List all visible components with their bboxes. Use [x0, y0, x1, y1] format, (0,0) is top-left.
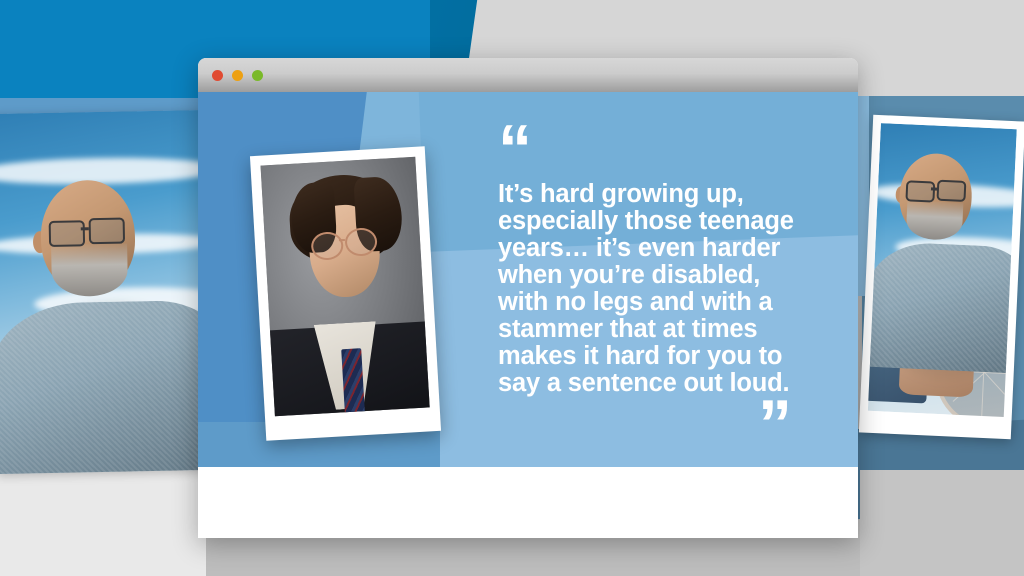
close-icon[interactable]: [212, 70, 223, 81]
quote-close-icon: ”: [498, 403, 808, 449]
photo-man-outdoors-left: [0, 110, 209, 474]
minimize-icon[interactable]: [232, 70, 243, 81]
glasses-bridge: [931, 187, 937, 190]
shirt: [0, 300, 209, 474]
browser-viewport: “ It’s hard growing up, especially those…: [198, 92, 858, 538]
background-bottom-left-light: [0, 470, 206, 576]
glasses-lens-left: [49, 220, 85, 247]
glasses-bridge: [81, 227, 89, 230]
browser-window: “ It’s hard growing up, especially those…: [198, 58, 858, 538]
quote-card: “ It’s hard growing up, especially those…: [198, 92, 858, 467]
polaroid-frame: [250, 146, 441, 441]
maximize-icon[interactable]: [252, 70, 263, 81]
photo-man-wheelchair-right: [859, 115, 1024, 440]
quote-open-icon: “: [498, 128, 808, 172]
browser-page-body: [198, 467, 858, 538]
quote-text: It’s hard growing up, especially those t…: [498, 181, 808, 397]
screenshot-stage: “ It’s hard growing up, especially those…: [0, 0, 1024, 576]
glasses-lens-right: [89, 218, 125, 245]
glasses-lens-right: [936, 180, 966, 202]
glasses-lens-left: [905, 180, 935, 202]
polaroid-photo: [261, 157, 430, 417]
quote-block: “ It’s hard growing up, especially those…: [498, 128, 808, 449]
shirt: [868, 241, 1017, 374]
photo-right-inner: [868, 123, 1017, 417]
photo-left-inner: [0, 110, 209, 474]
necktie: [341, 348, 365, 416]
glasses-bridge: [339, 239, 345, 241]
browser-titlebar[interactable]: [198, 58, 858, 92]
background-bottom-right-gray: [860, 470, 1024, 576]
